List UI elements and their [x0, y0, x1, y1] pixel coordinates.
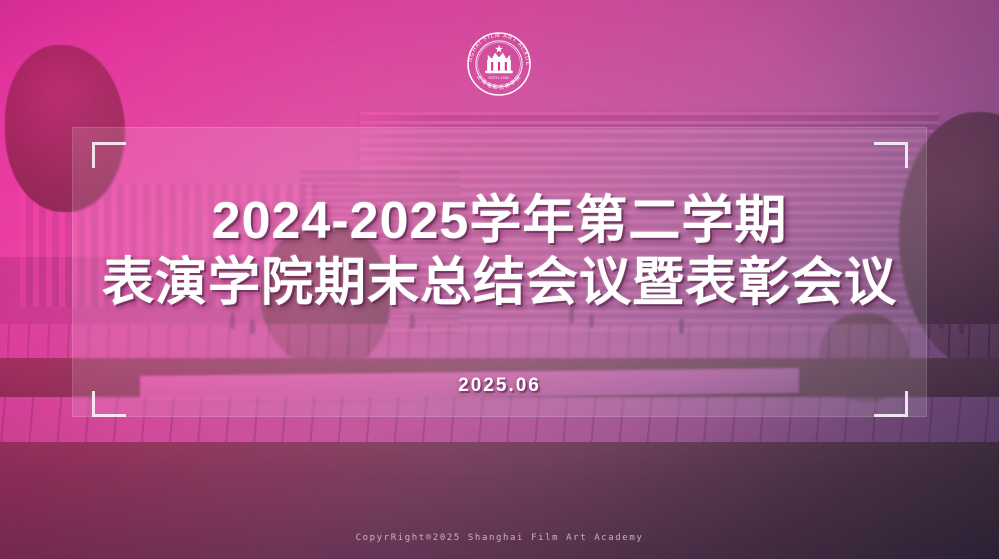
copyright-footer: CopyrRight®2025 Shanghai Film Art Academ…: [0, 533, 999, 543]
event-date: 2025.06: [0, 375, 999, 397]
corner-bracket-top-right: [874, 142, 908, 168]
presentation-title-slide: SHANGHAI FILM ART ACADEMY 上海电影艺术学院 ESTD.…: [0, 0, 999, 559]
title-block: 2024-2025学年第二学期 表演学院期末总结会议暨表彰会议: [0, 192, 999, 312]
academy-logo: SHANGHAI FILM ART ACADEMY 上海电影艺术学院 ESTD.…: [466, 31, 532, 97]
corner-bracket-top-left: [92, 142, 126, 168]
svg-text:ESTD.1950: ESTD.1950: [489, 76, 510, 80]
title-line-2: 表演学院期末总结会议暨表彰会议: [0, 254, 999, 312]
title-line-1: 2024-2025学年第二学期: [0, 192, 999, 250]
